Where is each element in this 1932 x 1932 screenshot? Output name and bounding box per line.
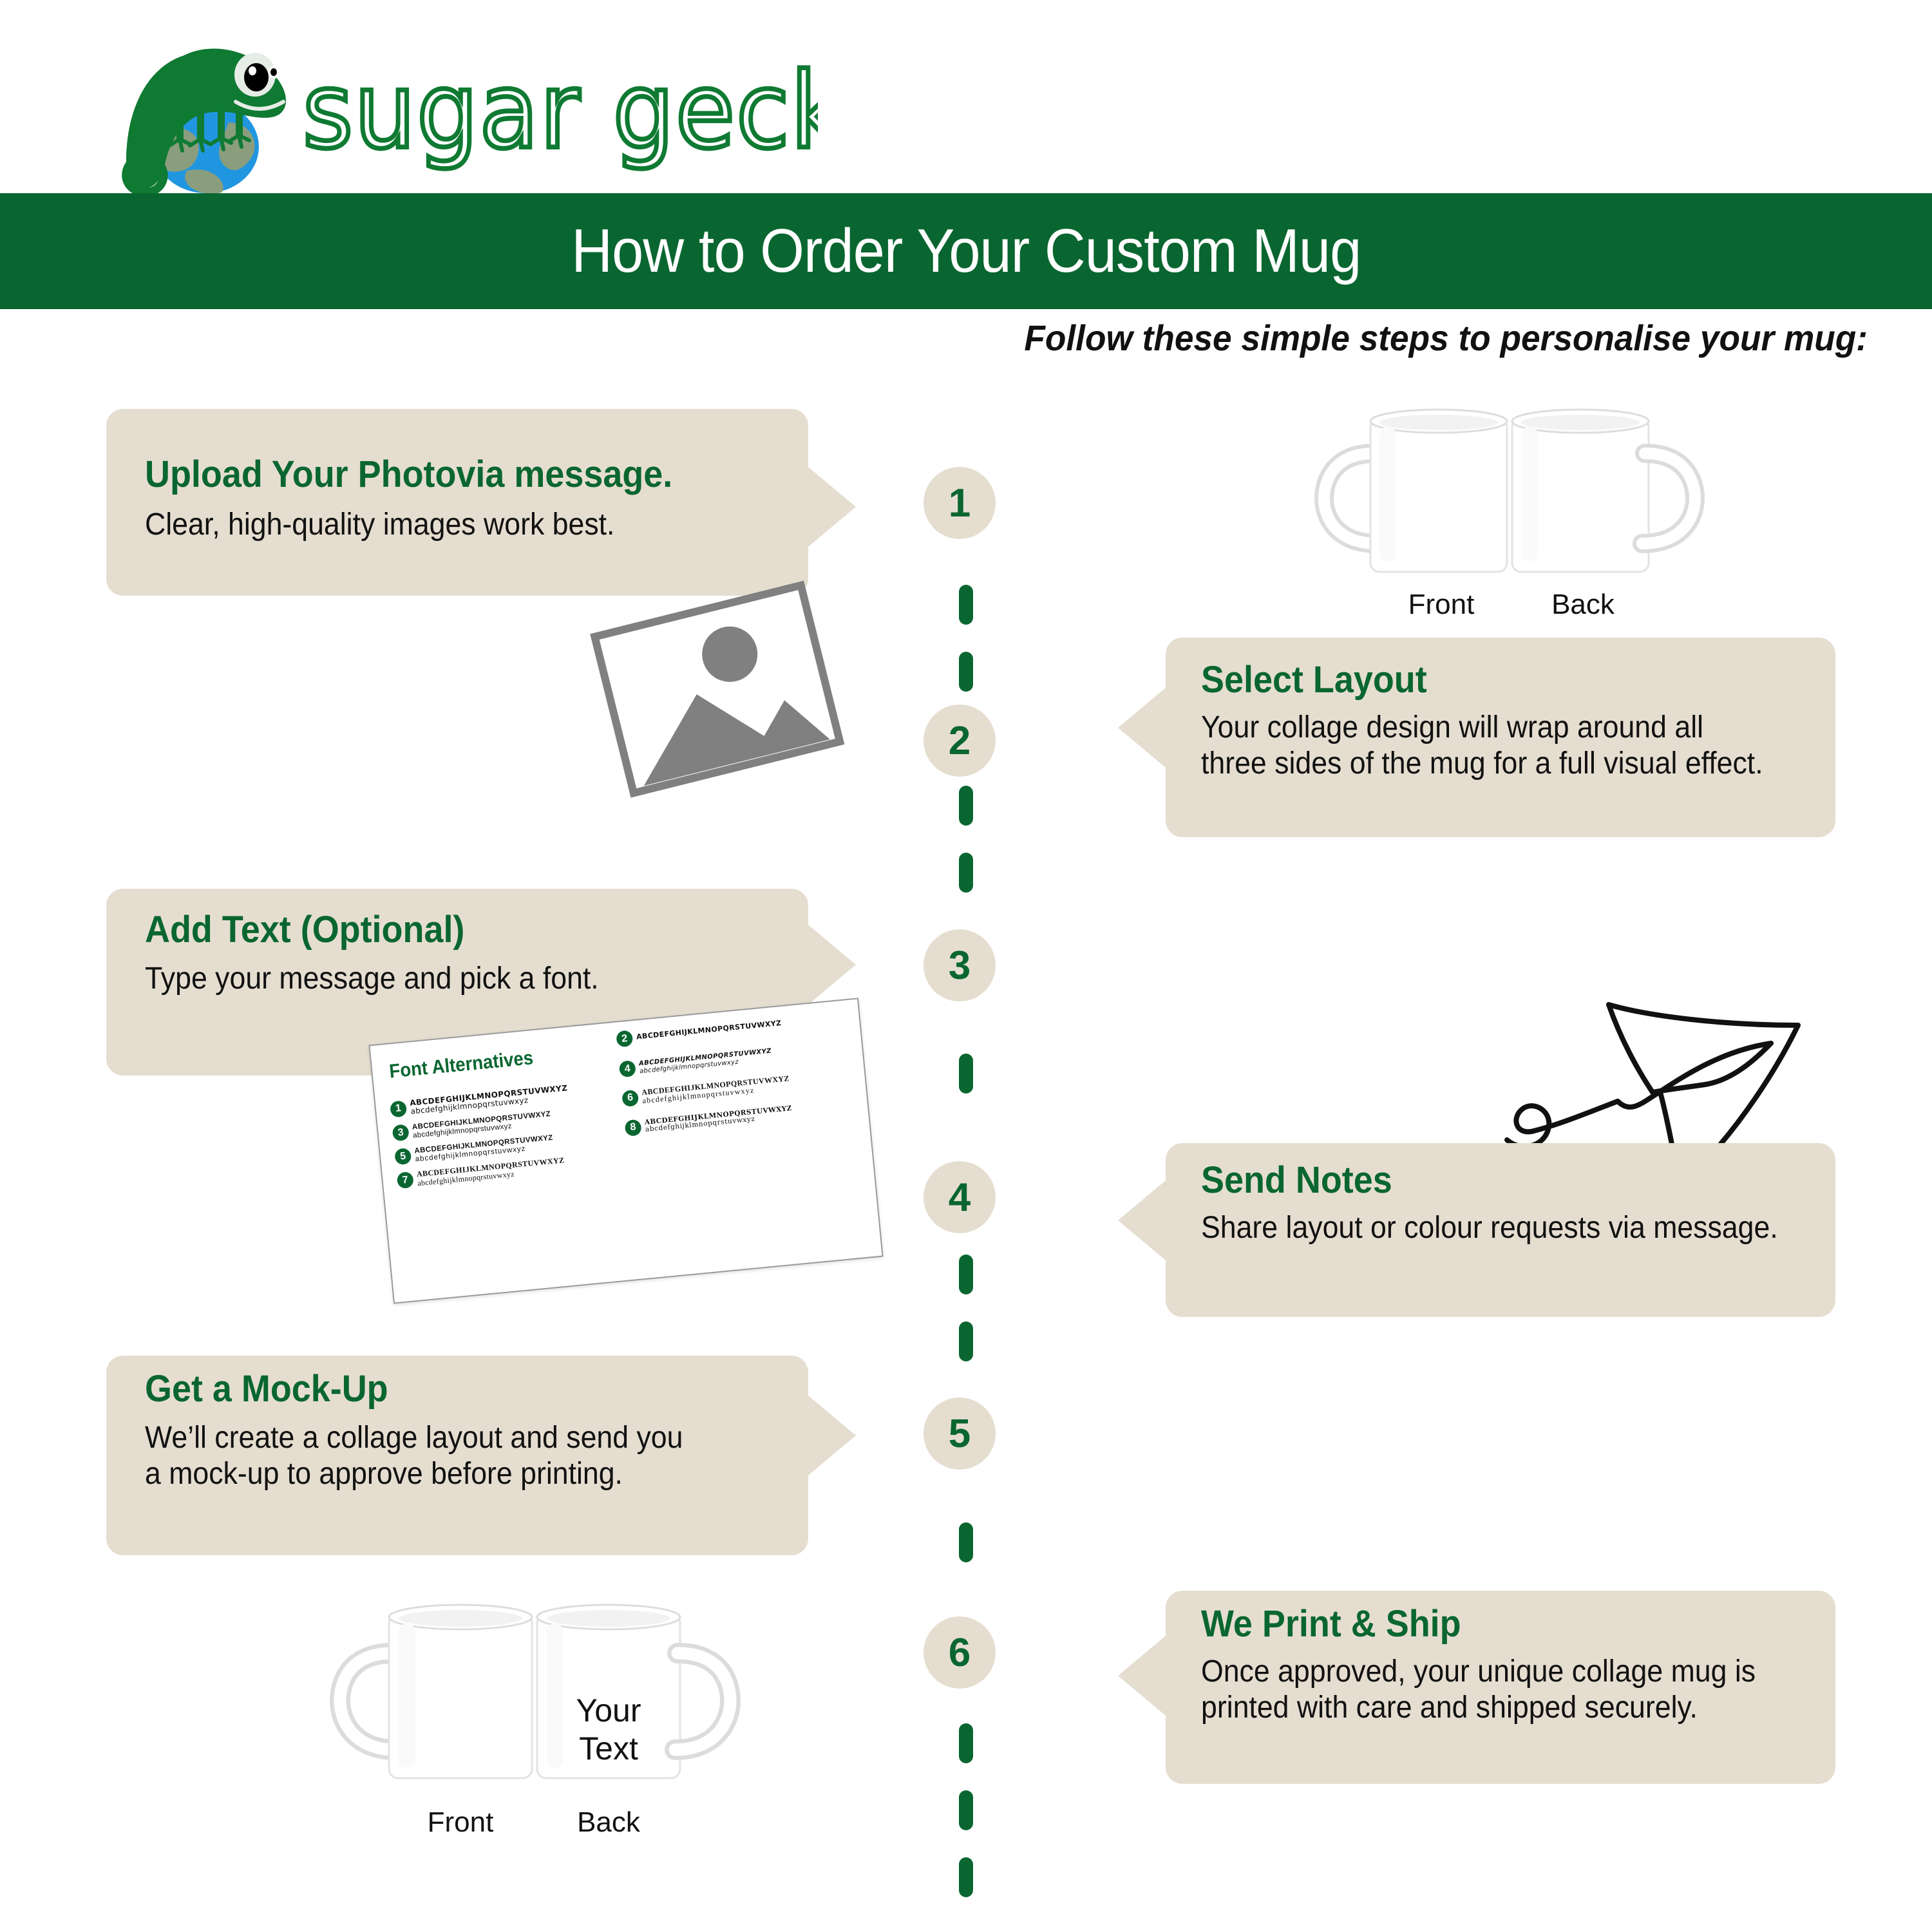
mug-front-label-top: Front bbox=[1377, 589, 1506, 621]
step-number-5: 5 bbox=[923, 1397, 996, 1470]
mug-custom-text: Your Text bbox=[554, 1692, 663, 1768]
font-column-right: 2 ABCDEFGHIJKLMNOPQRSTUVWXYZ 4 ABCDEFGHI… bbox=[616, 1010, 851, 1144]
step-title-2: Select Layout bbox=[1201, 661, 1427, 700]
callout-tail-5 bbox=[808, 1396, 856, 1475]
step-number-3: 3 bbox=[923, 929, 996, 1001]
step-title-1: Upload Your Photovia message. bbox=[145, 455, 672, 495]
step-callout-2: Select Layout Your collage design will w… bbox=[1166, 638, 1835, 837]
step-callout-1: Upload Your Photovia message. Clear, hig… bbox=[106, 409, 808, 596]
font-sample-number: 6 bbox=[621, 1090, 639, 1107]
font-sample-number: 8 bbox=[624, 1119, 641, 1137]
font-sample-text: ABCDEFGHIJKLMNOPQRSTUVWXYZ abcdefghijklm… bbox=[644, 1105, 793, 1134]
timeline-dash bbox=[959, 652, 973, 692]
timeline-dash bbox=[959, 585, 973, 625]
step-callout-6: We Print & Ship Once approved, your uniq… bbox=[1166, 1591, 1835, 1784]
timeline-dash bbox=[959, 1723, 973, 1763]
font-sample-number: 2 bbox=[616, 1030, 633, 1047]
page-subtitle: Follow these simple steps to personalise… bbox=[93, 317, 1868, 359]
mug-pair-blank-icon bbox=[1307, 399, 1719, 586]
font-sample-number: 3 bbox=[392, 1124, 410, 1142]
font-sample-row: 8 ABCDEFGHIJKLMNOPQRSTUVWXYZ abcdefghijk… bbox=[624, 1099, 850, 1136]
font-sample-number: 1 bbox=[390, 1100, 407, 1117]
font-alternatives-card: Font Alternatives 1 ABCDEFGHIJKLMNOPQRST… bbox=[368, 998, 883, 1303]
step-body-6: Once approved, your unique collage mug i… bbox=[1201, 1654, 1756, 1725]
step-callout-4: Send Notes Share layout or colour reques… bbox=[1166, 1143, 1835, 1317]
step-number-2: 2 bbox=[923, 705, 996, 777]
step-body-2: Your collage design will wrap around all… bbox=[1201, 710, 1763, 781]
callout-tail-3 bbox=[808, 925, 856, 1005]
header-banner: How to Order Your Custom Mug bbox=[0, 193, 1932, 309]
step-number-6: 6 bbox=[923, 1616, 996, 1689]
callout-tail-6 bbox=[1118, 1636, 1166, 1716]
mug-preview-top: Front Back bbox=[1307, 399, 1719, 625]
step-callout-5: Get a Mock-Up We’ll create a collage lay… bbox=[106, 1356, 808, 1555]
timeline-dash bbox=[959, 1522, 973, 1562]
timeline-dash bbox=[959, 1857, 973, 1897]
font-sample-text: ABCDEFGHIJKLMNOPQRSTUVWXYZ bbox=[636, 1019, 782, 1041]
brand-logo: sugar gecko bbox=[90, 26, 811, 193]
gecko-globe-logo-icon bbox=[109, 32, 296, 193]
svg-text:sugar gecko: sugar gecko bbox=[303, 58, 818, 172]
page-title: How to Order Your Custom Mug bbox=[571, 216, 1361, 287]
image-placeholder-icon bbox=[586, 580, 850, 805]
font-sample-number: 7 bbox=[397, 1171, 414, 1189]
step-body-4: Share layout or colour requests via mess… bbox=[1201, 1210, 1778, 1246]
mug-pair-with-text-icon bbox=[322, 1594, 753, 1800]
timeline-dash bbox=[959, 1321, 973, 1361]
step-body-1: Clear, high-quality images work best. bbox=[145, 507, 614, 543]
step-body-3: Type your message and pick a font. bbox=[145, 961, 599, 997]
step-number-1: 1 bbox=[923, 467, 996, 539]
font-sample-text: ABCDEFGHIJKLMNOPQRSTUVWXYZ abcdefghijklm… bbox=[641, 1074, 791, 1106]
timeline-dash bbox=[959, 1255, 973, 1294]
mug-preview-bottom: Your Text Front Back bbox=[322, 1594, 753, 1858]
step-number-4: 4 bbox=[923, 1161, 996, 1233]
timeline-dash bbox=[959, 786, 973, 826]
timeline-dash bbox=[959, 1790, 973, 1830]
step-title-4: Send Notes bbox=[1201, 1161, 1392, 1200]
timeline-dash bbox=[959, 1054, 973, 1094]
brand-wordmark: sugar gecko bbox=[303, 58, 818, 174]
step-title-6: We Print & Ship bbox=[1201, 1605, 1461, 1644]
step-body-5: We’ll create a collage layout and send y… bbox=[145, 1420, 683, 1492]
timeline-dash bbox=[959, 853, 973, 893]
mug-front-label-bottom: Front bbox=[396, 1806, 525, 1839]
mug-back-label-bottom: Back bbox=[544, 1806, 673, 1839]
step-title-5: Get a Mock-Up bbox=[145, 1370, 388, 1409]
font-sample-number: 5 bbox=[394, 1148, 412, 1165]
font-sample-text: ABCDEFGHIJKLMNOPQRSTUVWXYZ abcdefghijklm… bbox=[639, 1048, 773, 1075]
step-title-3: Add Text (Optional) bbox=[145, 911, 464, 950]
callout-tail-1 bbox=[808, 467, 856, 547]
mug-back-label-top: Back bbox=[1519, 589, 1647, 621]
font-sample-number: 4 bbox=[619, 1060, 636, 1077]
font-column-left: 1 ABCDEFGHIJKLMNOPQRSTUVWXYZ abcdefghijk… bbox=[388, 1057, 623, 1197]
callout-tail-2 bbox=[1118, 688, 1166, 768]
callout-tail-4 bbox=[1118, 1180, 1166, 1260]
